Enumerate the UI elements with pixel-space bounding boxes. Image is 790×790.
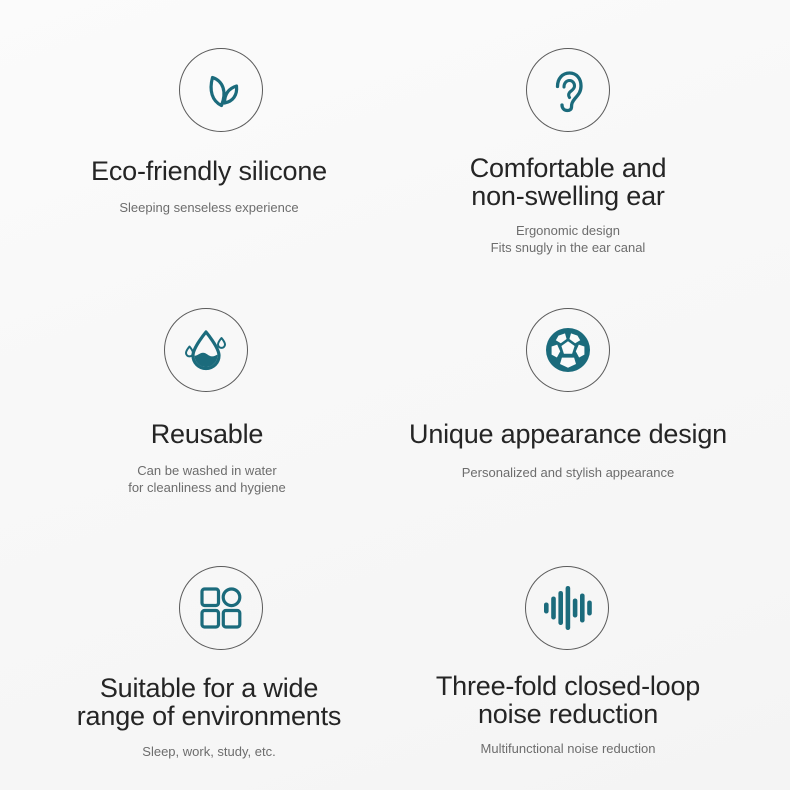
feature-card-versatile: Suitable for a wide range of environment…: [26, 566, 392, 760]
feature-subtitle-versatile: Sleep, work, study, etc.: [142, 743, 275, 760]
feature-card-reusable: Reusable Can be washed in water for clea…: [24, 308, 390, 496]
feature-card-noise: Three-fold closed-loop noise reduction M…: [378, 566, 758, 757]
water-drop-icon: [180, 324, 232, 376]
grid-shapes-icon: [198, 585, 244, 631]
feature-title-reusable: Reusable: [151, 420, 263, 448]
ear-icon: [543, 65, 593, 115]
feature-subtitle-unique: Personalized and stylish appearance: [462, 464, 674, 481]
feature-card-comfort: Comfortable and non-swelling ear Ergonom…: [378, 48, 758, 256]
feature-subtitle-noise: Multifunctional noise reduction: [481, 740, 656, 757]
icon-ring-reusable: [164, 308, 248, 392]
feature-card-unique: Unique appearance design Personalized an…: [378, 308, 758, 481]
feature-card-eco: Eco-friendly silicone Sleeping senseless…: [26, 48, 392, 216]
icon-ring-noise: [525, 566, 609, 650]
sound-wave-icon: [541, 582, 593, 634]
feature-title-unique: Unique appearance design: [409, 420, 727, 448]
soccer-ball-icon: [542, 324, 594, 376]
leaf-icon: [196, 65, 246, 115]
icon-ring-versatile: [179, 566, 263, 650]
feature-subtitle-reusable: Can be washed in water for cleanliness a…: [128, 462, 286, 496]
icon-ring-eco: [179, 48, 263, 132]
feature-title-noise: Three-fold closed-loop noise reduction: [436, 672, 700, 728]
feature-title-versatile: Suitable for a wide range of environment…: [77, 674, 341, 730]
feature-title-comfort: Comfortable and non-swelling ear: [470, 154, 667, 210]
feature-highlights-board: Eco-friendly silicone Sleeping senseless…: [0, 0, 790, 790]
feature-title-eco: Eco-friendly silicone: [91, 157, 327, 185]
icon-ring-unique: [526, 308, 610, 392]
feature-subtitle-comfort: Ergonomic design Fits snugly in the ear …: [491, 222, 646, 256]
feature-subtitle-eco: Sleeping senseless experience: [119, 199, 298, 216]
icon-ring-comfort: [526, 48, 610, 132]
